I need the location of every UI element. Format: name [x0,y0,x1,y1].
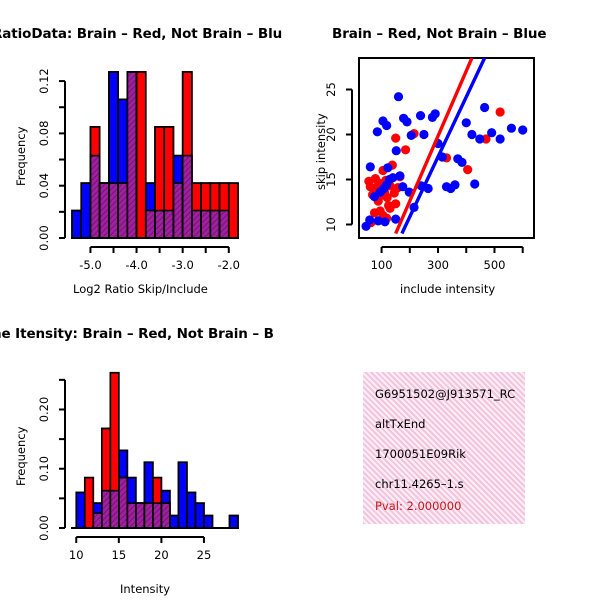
panel-ratio-histogram: RatioData: Brain – Red, Not Brain – Blu … [0,0,300,300]
y-tick-label: 0.08 [37,121,51,147]
scatter-point [419,130,428,139]
hist-bar-overlap [192,211,201,238]
hist-bar-blue [72,211,81,238]
scatter-point [401,145,410,154]
scatter-point [450,180,459,189]
ratio-histogram-title: RatioData: Brain – Red, Not Brain – Blu [0,26,282,42]
x-tick-label: 10 [69,548,84,562]
scatter-point [507,124,516,133]
x-tick-label: 20 [154,548,169,562]
hist-bar-overlap [144,503,153,528]
hist-bar-overlap [118,183,127,238]
hist-bar-overlap [210,211,219,238]
hist-bar-overlap [127,503,136,528]
y-tick-label: 0.00 [37,225,51,251]
intensity-histogram-xlabel: Intensity [120,582,170,596]
scatter-point [395,171,404,180]
hist-bar-blue [204,516,213,528]
y-tick-label: 0.00 [37,515,51,541]
y-tick-label: 0.10 [37,456,51,482]
hist-bar-blue [229,516,238,528]
scatter-point [487,128,496,137]
y-tick-label: 25 [324,82,338,97]
gene-info-panel: G6951502@J913571_RC altTxEnd 1700051E09R… [363,372,525,524]
x-tick-label: -5.0 [79,258,101,272]
hist-bar-blue [81,183,90,238]
scatter-point [402,117,411,126]
info-line-pval: Pval: 2.000000 [375,499,461,513]
hist-bar-overlap [136,503,145,528]
ratio-histogram-plot: 0.000.040.080.12-5.0-4.0-3.0-2.0 [0,0,300,300]
x-tick-label: 300 [427,258,449,272]
scatter-point [365,215,374,224]
hist-bar-overlap [164,211,173,238]
intensity-histogram-plot: 0.000.100.2010152025 [0,300,300,600]
hist-bar-overlap [220,211,229,238]
scatter-point [382,121,391,130]
scatter-plot-title: Brain – Red, Not Brain – Blue [332,26,546,42]
hist-bar-red [229,183,238,238]
scatter-point [480,103,489,112]
scatter-plot-area: 10152025100300500 [300,0,600,300]
hist-bar-overlap [93,513,102,528]
scatter-plot-box [359,58,534,238]
hist-bar-overlap [102,491,111,528]
hist-bar-overlap [173,183,182,238]
scatter-point [416,111,425,120]
info-line-probe-id: chr11.4265–1.s [375,477,464,491]
scatter-point [373,127,382,136]
scatter-point [457,158,466,167]
x-tick-label: -3.0 [171,258,193,272]
hist-bar-overlap [153,503,162,528]
hist-bar-blue [187,492,196,528]
hist-bar-blue [195,503,204,528]
hist-bar-blue [178,462,187,528]
scatter-point [383,163,392,172]
scatter-point [518,125,527,134]
info-line-gene-id: G6951502@J913571_RC [375,387,515,401]
scatter-point [385,204,394,213]
scatter-point [463,165,472,174]
scatter-point [391,134,400,143]
y-tick-label: 0.04 [37,173,51,199]
hist-bar-overlap [146,211,155,238]
hist-bar-overlap [100,183,109,238]
intensity-histogram-ylabel: Frequency [14,427,28,486]
hist-bar-overlap [183,156,192,238]
y-tick-label: 10 [324,217,338,232]
hist-bar-overlap [161,503,170,528]
scatter-point [475,134,484,143]
hist-bar-overlap [127,72,136,238]
x-tick-label: 25 [197,548,212,562]
hist-bar-blue [76,492,85,528]
scatter-plot-xlabel: include intensity [400,282,495,296]
intensity-histogram-title: ne Itensity: Brain – Red, Not Brain – B [0,326,274,342]
x-tick-label: 100 [371,258,393,272]
y-tick-label: 0.12 [37,68,51,94]
hist-bar-red [137,72,146,238]
info-line-event-type: altTxEnd [375,417,425,431]
x-tick-label: -4.0 [125,258,147,272]
panel-scatter-plot: Brain – Red, Not Brain – Blue skip inten… [300,0,600,300]
scatter-point [462,118,471,127]
panel-intensity-histogram: ne Itensity: Brain – Red, Not Brain – B … [0,300,300,600]
ratio-histogram-ylabel: Frequency [14,127,28,186]
hist-bar-overlap [201,211,210,238]
scatter-point [366,162,375,171]
hist-bar-overlap [155,211,164,238]
ratio-histogram-xlabel: Log2 Ratio Skip/Include [73,282,208,296]
scatter-point [407,131,416,140]
x-tick-label: 15 [112,548,127,562]
hist-bar-overlap [109,183,118,238]
x-tick-label: 500 [484,258,506,272]
hist-bar-overlap [110,491,119,528]
y-tick-label: 0.20 [37,397,51,423]
hist-bar-blue [170,516,179,528]
scatter-point [431,109,440,118]
scatter-plot-ylabel: skip intensity [314,113,328,190]
scatter-point [470,179,479,188]
hist-bar-overlap [90,156,99,238]
hist-bar-red [85,478,94,528]
info-line-gene-symbol: 1700051E09Rik [375,447,466,461]
x-tick-label: -2.0 [218,258,240,272]
scatter-point [392,146,401,155]
scatter-point [380,217,389,226]
scatter-point [467,130,476,139]
scatter-point [394,92,403,101]
scatter-point [496,107,505,116]
hist-bar-overlap [119,478,128,528]
scatter-point [496,134,505,143]
